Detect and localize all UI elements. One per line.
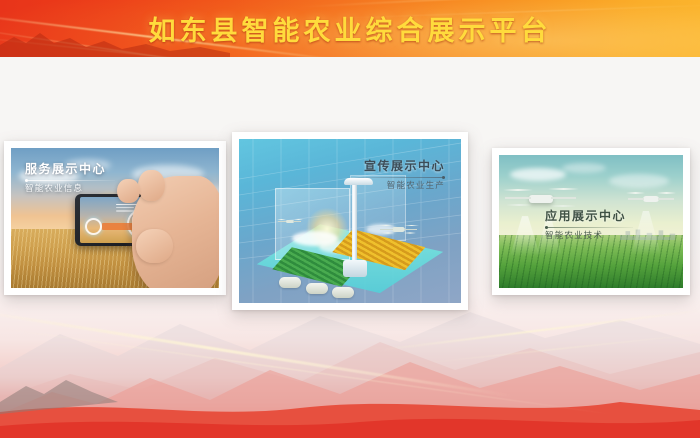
drone-arm [551, 197, 577, 199]
card-service-text: 服务展示中心 智能农业信息 [25, 162, 115, 195]
card-promotion-text: 宣传展示中心 智能农业生产 [347, 159, 445, 192]
finger [117, 179, 140, 203]
drone-arm [278, 221, 286, 223]
cloud [562, 163, 606, 173]
water-tank [343, 260, 367, 277]
drone-rotor [404, 225, 418, 227]
drone-arm [404, 229, 417, 231]
drone [277, 214, 303, 228]
card-service-image: 服务展示中心 智能农业信息 [11, 148, 219, 288]
drone-arm [293, 221, 301, 223]
hud-ring-icon [85, 218, 102, 235]
card-service-display[interactable]: 服务展示中心 智能农业信息 [4, 141, 226, 295]
card-application-text: 应用展示中心 智能农业技术 [545, 209, 633, 242]
hud-bar [116, 207, 134, 209]
drone-rotor [548, 188, 578, 190]
card-promotion-image: 宣传展示中心 智能农业生产 [239, 139, 461, 303]
card-service-title: 服务展示中心 [25, 162, 115, 177]
card-promotion-title: 宣传展示中心 [347, 159, 445, 174]
title-divider [347, 177, 445, 178]
drone-arm [658, 198, 674, 200]
drone-rotor [382, 232, 394, 234]
drone-arm [628, 198, 644, 200]
hay-bale [279, 277, 301, 288]
drone-body [529, 195, 553, 204]
drone-arm [380, 229, 393, 231]
card-service-subtitle: 智能农业信息 [25, 184, 115, 195]
drone-rotor [550, 205, 576, 207]
drone-arm [505, 197, 531, 199]
card-promotion-display[interactable]: 宣传展示中心 智能农业生产 [232, 132, 468, 310]
page-title: 如东县智能农业综合展示平台 [0, 0, 700, 57]
card-application-title: 应用展示中心 [545, 209, 633, 224]
card-application-display[interactable]: 应用展示中心 智能农业技术 [492, 148, 690, 295]
card-application-image: 应用展示中心 智能农业技术 [499, 155, 683, 288]
finger [136, 229, 173, 263]
drone-rotor [626, 192, 645, 194]
header-banner: 如东县智能农业综合展示平台 [0, 0, 700, 57]
title-divider [25, 180, 115, 181]
hay-bale [306, 283, 328, 294]
cloud [609, 174, 669, 188]
drone-rotor [503, 189, 533, 191]
drone-rotor [379, 225, 393, 227]
hay-bale [332, 287, 354, 298]
drone-rotor [404, 232, 416, 234]
drone-body [643, 196, 659, 202]
drone [379, 219, 419, 239]
card-promotion-subtitle: 智能农业生产 [347, 181, 445, 192]
drone-rotor [657, 192, 676, 194]
platform-home-page: 如东县智能农业综合展示平台 [0, 0, 700, 438]
finger [138, 170, 165, 201]
title-divider [545, 227, 633, 228]
drone-rotor [506, 204, 532, 206]
sensor-pole [352, 182, 357, 267]
drone [626, 187, 676, 211]
card-application-subtitle: 智能农业技术 [545, 231, 633, 242]
